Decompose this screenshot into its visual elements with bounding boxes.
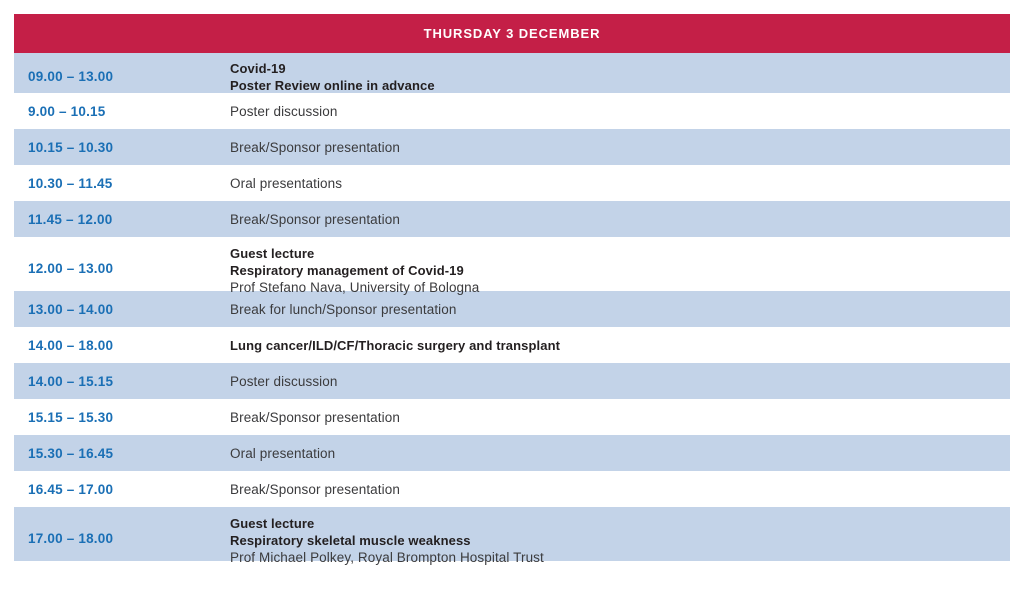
session-title: Guest lecture: [230, 245, 994, 262]
session-row: 17.00 – 18.00Guest lectureRespiratory sk…: [14, 507, 1010, 561]
session-time: 14.00 – 18.00: [14, 338, 230, 353]
session-detail: Poster discussion: [230, 93, 1010, 129]
session-detail: Lung cancer/ILD/CF/Thoracic surgery and …: [230, 327, 1010, 363]
session-row: 15.30 – 16.45Oral presentation: [14, 435, 1010, 471]
session-subtitle: Break/Sponsor presentation: [230, 410, 400, 425]
session-detail: Covid-19Poster Review online in advance: [230, 59, 1010, 94]
session-detail: Poster discussion: [230, 363, 1010, 399]
session-subtitle: Respiratory management of Covid-19: [230, 262, 994, 279]
session-title: Guest lecture: [230, 515, 994, 532]
session-detail: Break/Sponsor presentation: [230, 201, 1010, 237]
session-detail: Break/Sponsor presentation: [230, 129, 1010, 165]
session-subtitle: Break/Sponsor presentation: [230, 140, 400, 155]
session-subtitle: Poster discussion: [230, 104, 338, 119]
session-time: 13.00 – 14.00: [14, 302, 230, 317]
session-row: 16.45 – 17.00Break/Sponsor presentation: [14, 471, 1010, 507]
session-time: 17.00 – 18.00: [14, 531, 230, 546]
session-subtitle: Respiratory skeletal muscle weakness: [230, 532, 994, 549]
session-row: 09.00 – 13.00Covid-19Poster Review onlin…: [14, 53, 1010, 93]
session-detail: Guest lectureRespiratory management of C…: [230, 245, 1010, 296]
session-detail: Break/Sponsor presentation: [230, 471, 1010, 507]
session-title: Lung cancer/ILD/CF/Thoracic surgery and …: [230, 338, 560, 353]
session-time: 10.30 – 11.45: [14, 176, 230, 191]
session-subtitle: Break/Sponsor presentation: [230, 212, 400, 227]
session-row: 14.00 – 15.15Poster discussion: [14, 363, 1010, 399]
session-time: 09.00 – 13.00: [14, 69, 230, 84]
session-subtitle: Oral presentations: [230, 176, 342, 191]
session-time: 14.00 – 15.15: [14, 374, 230, 389]
session-time: 11.45 – 12.00: [14, 212, 230, 227]
session-detail: Break for lunch/Sponsor presentation: [230, 291, 1010, 327]
session-presenter: Prof Michael Polkey, Royal Brompton Hosp…: [230, 549, 994, 566]
session-subtitle: Oral presentation: [230, 446, 335, 461]
session-row: 13.00 – 14.00Break for lunch/Sponsor pre…: [14, 291, 1010, 327]
day-header: THURSDAY 3 DECEMBER: [14, 14, 1010, 53]
session-row: 15.15 – 15.30Break/Sponsor presentation: [14, 399, 1010, 435]
session-time: 15.30 – 16.45: [14, 446, 230, 461]
session-row: 10.15 – 10.30Break/Sponsor presentation: [14, 129, 1010, 165]
session-detail: Guest lectureRespiratory skeletal muscle…: [230, 515, 1010, 566]
session-row: 10.30 – 11.45Oral presentations: [14, 165, 1010, 201]
session-detail: Oral presentation: [230, 435, 1010, 471]
session-title: Covid-19: [230, 60, 994, 77]
session-detail: Oral presentations: [230, 165, 1010, 201]
session-subtitle: Poster discussion: [230, 374, 338, 389]
session-time: 9.00 – 10.15: [14, 104, 230, 119]
session-row: 14.00 – 18.00Lung cancer/ILD/CF/Thoracic…: [14, 327, 1010, 363]
session-subtitle: Break/Sponsor presentation: [230, 482, 400, 497]
session-row: 9.00 – 10.15Poster discussion: [14, 93, 1010, 129]
session-time: 16.45 – 17.00: [14, 482, 230, 497]
session-row: 11.45 – 12.00Break/Sponsor presentation: [14, 201, 1010, 237]
session-list: 09.00 – 13.00Covid-19Poster Review onlin…: [14, 53, 1010, 561]
session-subtitle: Poster Review online in advance: [230, 77, 994, 94]
session-time: 12.00 – 13.00: [14, 261, 230, 276]
session-detail: Break/Sponsor presentation: [230, 399, 1010, 435]
session-time: 10.15 – 10.30: [14, 140, 230, 155]
session-time: 15.15 – 15.30: [14, 410, 230, 425]
session-row: 12.00 – 13.00Guest lectureRespiratory ma…: [14, 237, 1010, 291]
session-subtitle: Break for lunch/Sponsor presentation: [230, 302, 456, 317]
schedule-table: THURSDAY 3 DECEMBER 09.00 – 13.00Covid-1…: [14, 14, 1010, 561]
